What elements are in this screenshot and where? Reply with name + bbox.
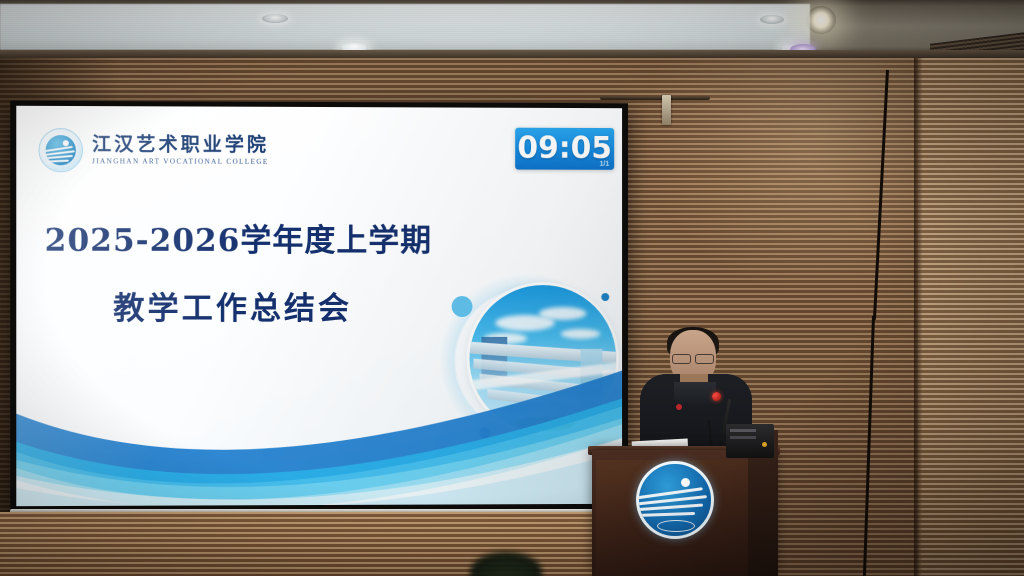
- screen-hanging-clip: [662, 95, 671, 125]
- college-name-en: JIANGHAN ART VOCATIONAL COLLEGE: [92, 158, 269, 166]
- presentation-slide: 江汉艺术职业学院 JIANGHAN ART VOCATIONAL COLLEGE…: [16, 106, 622, 506]
- college-logo: 江汉艺术职业学院 JIANGHAN ART VOCATIONAL COLLEGE: [39, 128, 269, 173]
- ceiling-spotlight-icon: [806, 6, 836, 34]
- ceiling-downlight-icon: [262, 14, 288, 23]
- screen-mount-rail: [600, 96, 710, 100]
- clock-overlay[interactable]: 09:05 1/1: [515, 128, 614, 170]
- lecture-hall-scene: 江汉艺术职业学院 JIANGHAN ART VOCATIONAL COLLEGE…: [0, 0, 1024, 576]
- ceiling-downlight-icon: [760, 15, 784, 24]
- lapel-badge: [676, 404, 682, 410]
- podium-equipment: [726, 424, 774, 458]
- wall-corner: [914, 58, 922, 576]
- projection-screen-frame: 江汉艺术职业学院 JIANGHAN ART VOCATIONAL COLLEGE…: [10, 101, 628, 516]
- decorative-dot: [601, 293, 609, 301]
- decorative-dot: [452, 296, 473, 317]
- wall-light-pool: [640, 58, 940, 298]
- ceiling-panel: [0, 4, 810, 50]
- slide-title-line2: 教学工作总结会: [113, 283, 352, 328]
- right-wall: [918, 58, 1024, 576]
- college-emblem-icon: [636, 461, 714, 539]
- glasses-icon: [672, 354, 714, 362]
- slide-page-indicator: 1/1: [600, 161, 610, 168]
- college-name-cn: 江汉艺术职业学院: [92, 135, 269, 155]
- slide-title-line1: 2025-2026学年度上学期: [45, 214, 433, 260]
- microphone-icon: [712, 392, 721, 401]
- decorative-wave-graphics: [16, 355, 622, 506]
- projection-screen[interactable]: 江汉艺术职业学院 JIANGHAN ART VOCATIONAL COLLEGE…: [16, 106, 622, 506]
- clock-time: 09:05: [517, 134, 612, 164]
- college-emblem-icon: [39, 128, 83, 172]
